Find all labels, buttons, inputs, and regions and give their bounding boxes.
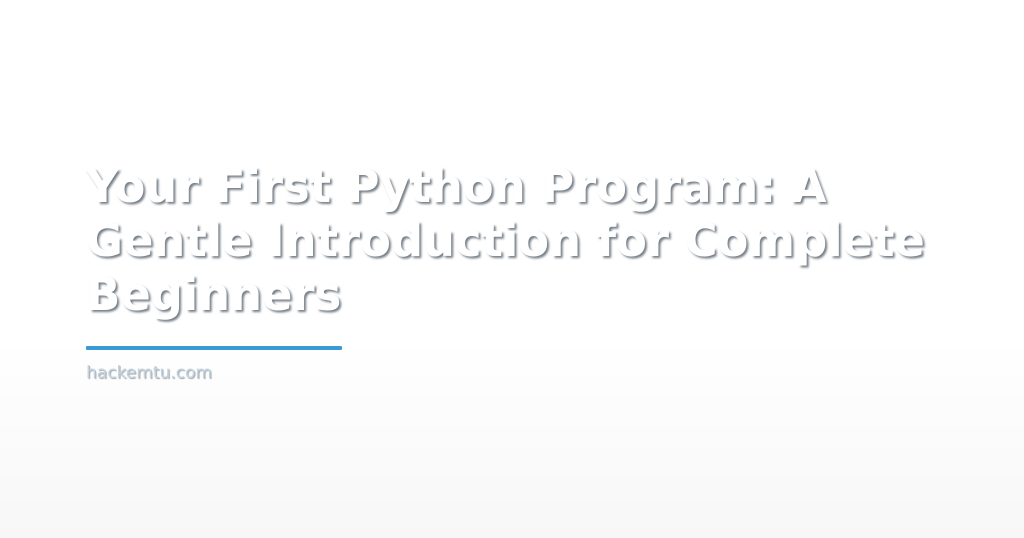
accent-divider: [86, 346, 342, 350]
page-title: Your First Python Program: A Gentle Intr…: [86, 160, 966, 322]
site-domain-label: hackemtu.com: [86, 362, 976, 384]
social-share-card: Your First Python Program: A Gentle Intr…: [0, 0, 1024, 538]
card-content: Your First Python Program: A Gentle Intr…: [86, 160, 976, 384]
